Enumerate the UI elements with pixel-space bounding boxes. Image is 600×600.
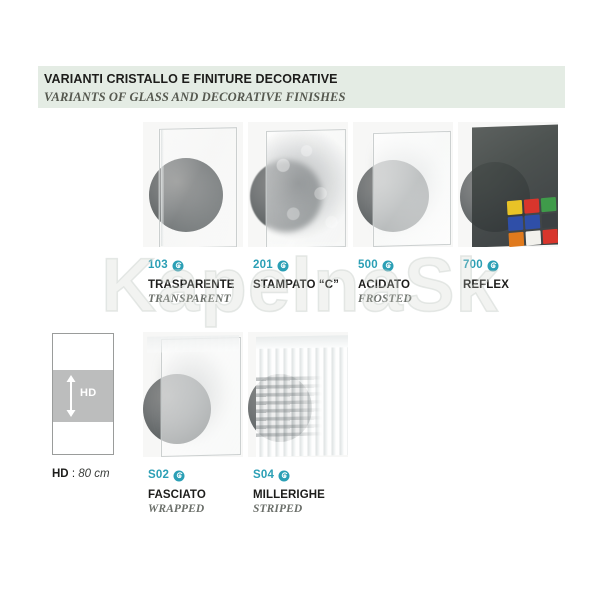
sample-image-201[interactable] bbox=[248, 122, 348, 247]
code-row: 500 bbox=[358, 259, 412, 273]
cube-swatch bbox=[525, 214, 541, 229]
sample-caption-S04: S04 MILLERIGHE STRIPED bbox=[253, 469, 325, 517]
swirl-icon bbox=[278, 470, 290, 482]
sample-name-en: TRANSPARENT bbox=[148, 292, 235, 307]
sample-image-103[interactable] bbox=[143, 122, 243, 247]
sample-caption-103: 103 TRASPARENTE TRANSPARENT bbox=[148, 259, 235, 307]
sample-caption-S02: S02 FASCIATO WRAPPED bbox=[148, 469, 206, 517]
swirl-icon bbox=[172, 260, 184, 272]
hd-caption: HD : 80 cm bbox=[52, 468, 110, 480]
sample-code: 700 bbox=[463, 260, 483, 272]
sample-caption-500: 500 ACIDATO FROSTED bbox=[358, 259, 412, 307]
cube-swatch bbox=[508, 216, 524, 231]
sample-image-S04[interactable] bbox=[248, 332, 348, 457]
swirl-icon bbox=[487, 260, 499, 272]
swirl-icon bbox=[382, 260, 394, 272]
sample-code: 201 bbox=[253, 260, 273, 272]
code-row: 201 bbox=[253, 259, 339, 273]
glass-panel bbox=[373, 131, 451, 247]
sample-name: ACIDATO bbox=[358, 278, 412, 292]
glass-panel bbox=[161, 337, 241, 457]
cube-swatch bbox=[507, 200, 523, 215]
hd-caption-separator: : bbox=[69, 468, 79, 480]
code-row: S02 bbox=[148, 469, 206, 483]
cube-swatch bbox=[541, 197, 557, 212]
sample-name-en: WRAPPED bbox=[148, 502, 206, 517]
colour-cubes bbox=[507, 197, 558, 247]
cube-swatch bbox=[509, 232, 525, 247]
glass-edge bbox=[161, 130, 164, 246]
sample-code: S02 bbox=[148, 470, 169, 482]
sample-name: FASCIATO bbox=[148, 488, 206, 502]
sample-name: TRASPARENTE bbox=[148, 278, 235, 292]
page-title: VARIANTI CRISTALLO E FINITURE DECORATIVE bbox=[44, 72, 338, 86]
glass-texture-overlay bbox=[266, 129, 344, 247]
sample-name: MILLERIGHE bbox=[253, 488, 325, 502]
code-row: S04 bbox=[253, 469, 325, 483]
sample-name-en: FROSTED bbox=[358, 292, 412, 307]
cube-swatch bbox=[542, 229, 558, 244]
swirl-icon bbox=[277, 260, 289, 272]
hd-diagram: HD bbox=[52, 333, 114, 455]
hd-caption-label: HD bbox=[52, 468, 69, 480]
wrap-band bbox=[147, 335, 239, 353]
sample-caption-201: 201 STAMPATO “C” bbox=[253, 259, 339, 292]
sample-code: 500 bbox=[358, 260, 378, 272]
glass-panel bbox=[159, 127, 237, 247]
page-subtitle: VARIANTS OF GLASS AND DECORATIVE FINISHE… bbox=[44, 90, 346, 105]
sample-name-en: STRIPED bbox=[253, 502, 325, 517]
swirl-icon bbox=[173, 470, 185, 482]
cube-swatch bbox=[524, 198, 540, 213]
cube-swatch bbox=[542, 213, 558, 228]
sample-image-S02[interactable] bbox=[143, 332, 243, 457]
sample-name: STAMPATO “C” bbox=[253, 278, 339, 292]
striped-refraction-overlay bbox=[256, 373, 348, 437]
sample-image-500[interactable] bbox=[353, 122, 453, 247]
sample-caption-700: 700 REFLEX bbox=[463, 259, 509, 292]
hd-caption-value: 80 cm bbox=[78, 468, 109, 480]
hd-band-label: HD bbox=[80, 387, 97, 399]
sample-code: S04 bbox=[253, 470, 274, 482]
sample-image-700[interactable] bbox=[458, 122, 558, 247]
code-row: 700 bbox=[463, 259, 509, 273]
sample-name: REFLEX bbox=[463, 278, 509, 292]
panel-top-edge bbox=[256, 335, 348, 349]
hd-double-arrow-icon bbox=[65, 375, 77, 417]
cube-swatch bbox=[525, 230, 541, 245]
code-row: 103 bbox=[148, 259, 235, 273]
sample-code: 103 bbox=[148, 260, 168, 272]
